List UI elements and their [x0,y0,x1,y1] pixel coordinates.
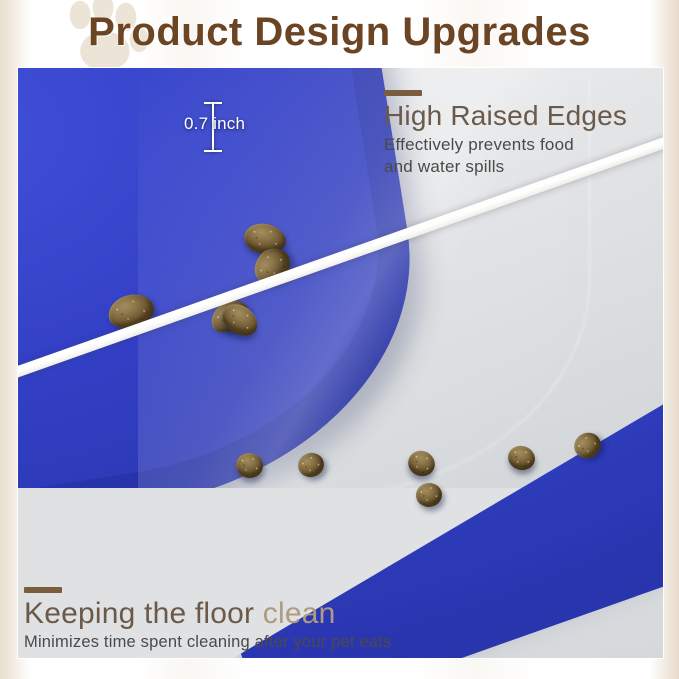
callout-subtext-line: Minimizes time spent cleaning after your… [24,632,391,653]
page-title: Product Design Upgrades [0,0,679,64]
callout-subtext-line: Effectively prevents food [384,134,627,156]
callout-keeping-floor-clean: Keeping the floor clean Minimizes time s… [24,587,391,654]
callout-heading-emphasis: clean [263,597,336,630]
callout-heading: High Raised Edges [384,101,627,131]
accent-bar [24,587,62,593]
dimension-annotation: 0.7 inch [188,96,288,158]
accent-bar [384,90,422,96]
callout-heading-main: Keeping the floor [24,597,254,630]
callout-subtext-line: and water spills [384,156,627,178]
dimension-label: 0.7 inch [184,114,245,134]
dimension-cap-bottom [204,150,222,152]
product-infographic: Product Design Upgrades smiloo [0,0,679,679]
callout-high-raised-edges: High Raised Edges Effectively prevents f… [384,90,627,178]
title-bar: Product Design Upgrades [0,0,679,68]
callout-heading: Keeping the floor clean [24,598,391,630]
callout-subtext: Effectively prevents food and water spil… [384,134,627,178]
callout-subtext: Minimizes time spent cleaning after your… [24,632,391,653]
